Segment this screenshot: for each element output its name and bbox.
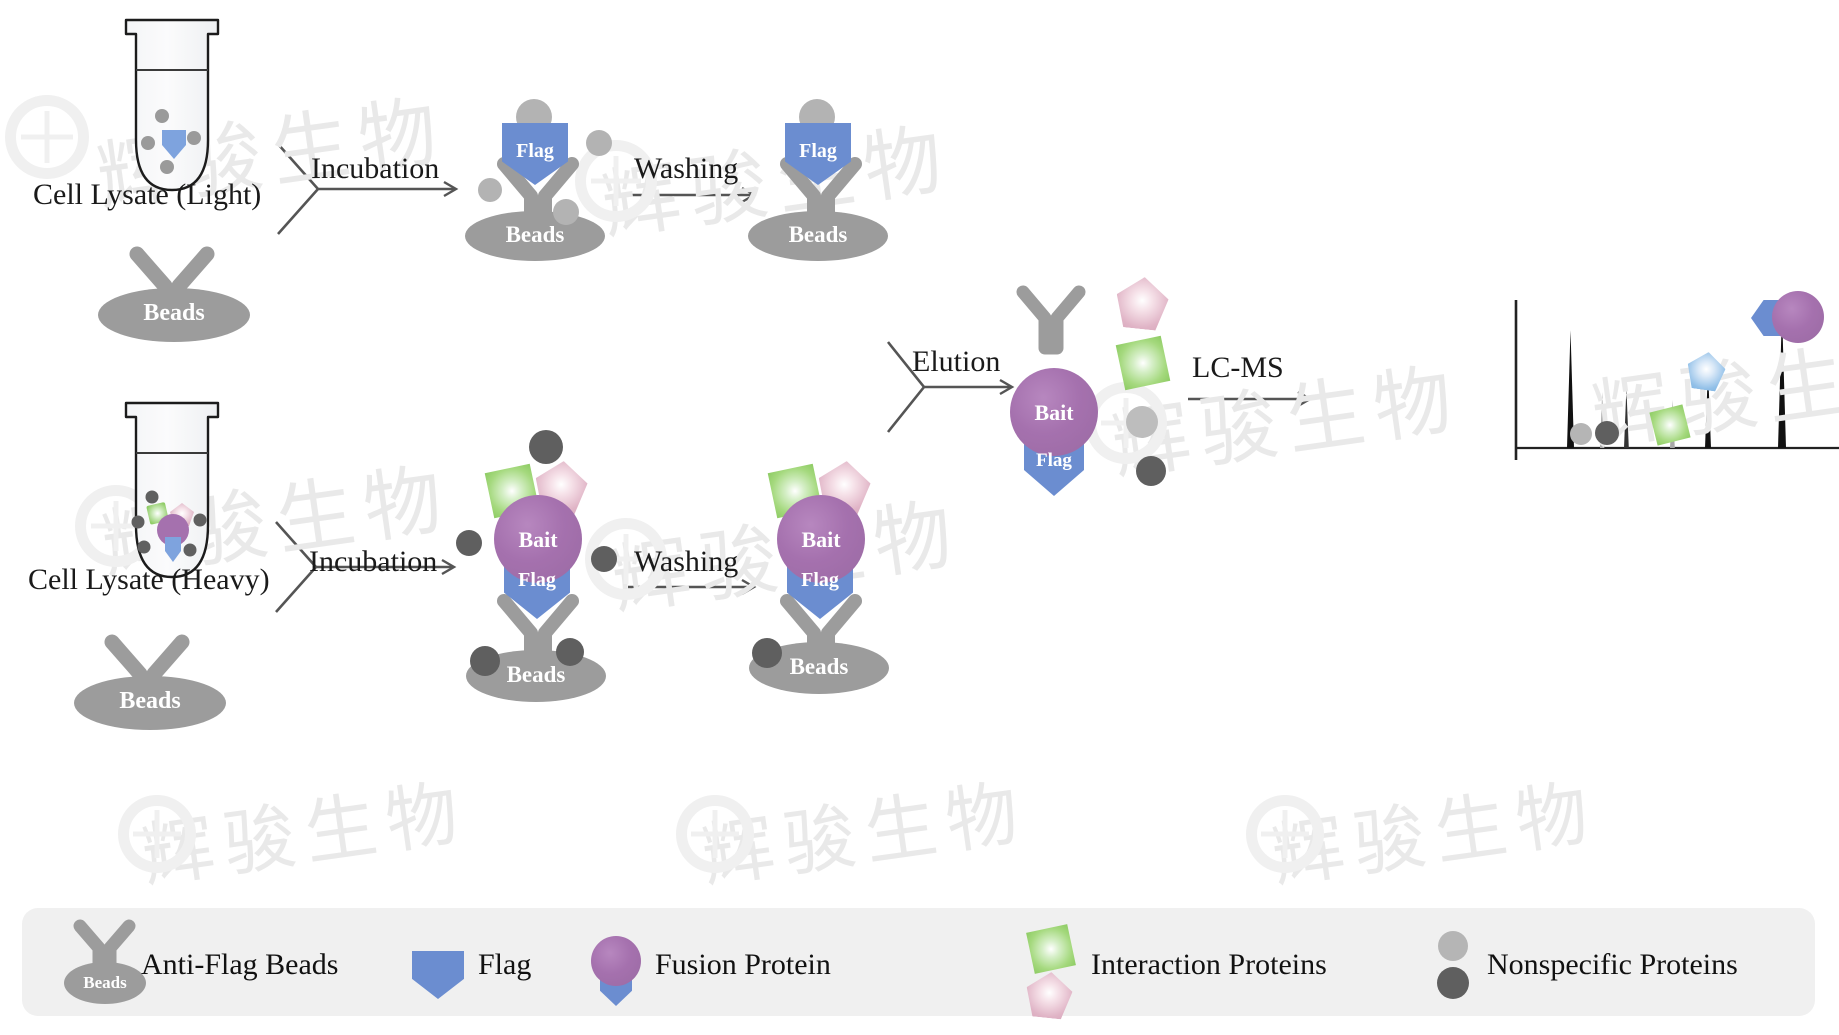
- label-washing-top: Washing: [634, 152, 738, 186]
- interaction-protein-square-icon: [1116, 336, 1171, 391]
- legend-label-fusion-protein: Fusion Protein: [655, 948, 831, 982]
- label-cell-lysate-heavy: Cell Lysate (Heavy): [28, 563, 270, 597]
- bait-protein-icon: [1010, 368, 1098, 456]
- antibody-icon: [123, 250, 221, 322]
- spectrum-marker-nonspecific-dark: [1595, 421, 1619, 445]
- washing-arrow-bottom: [628, 578, 760, 596]
- lcms-arrow: [1188, 390, 1316, 408]
- watermark-logo: [118, 795, 196, 873]
- nonspecific-protein-dot: [456, 530, 482, 556]
- nonspecific-protein-dot: [591, 546, 617, 572]
- label-incubation-top: Incubation: [311, 152, 439, 186]
- bait-protein-icon: [777, 495, 865, 583]
- legend-antibody-icon: [69, 922, 141, 978]
- watermark-logo: [5, 95, 89, 179]
- nonspecific-protein-dot: [586, 130, 612, 156]
- nonspecific-protein-dot: [1126, 406, 1158, 438]
- label-washing-bottom: Washing: [634, 545, 738, 579]
- legend-nonspecific-light-dot: [1438, 931, 1468, 961]
- watermark-text: 辉骏生物: [694, 753, 1033, 903]
- spectrum-marker-nonspecific-light: [1570, 423, 1592, 445]
- nonspecific-protein-dot: [529, 430, 563, 464]
- legend-nonspecific-dark-dot: [1437, 967, 1469, 999]
- legend-label-anti-flag-beads: Anti-Flag Beads: [141, 948, 338, 982]
- legend-fusion-bait-icon: [591, 936, 641, 986]
- legend-label-nonspecific-proteins: Nonspecific Proteins: [1487, 948, 1738, 982]
- bait-protein-icon: [494, 495, 582, 583]
- antibody-icon: [98, 638, 196, 710]
- washing-arrow-top: [628, 186, 760, 204]
- nonspecific-protein-dot: [1136, 456, 1166, 486]
- interaction-protein-pentagon-icon: [1113, 274, 1170, 331]
- watermark-logo: [1246, 795, 1324, 873]
- label-elution: Elution: [912, 345, 1000, 379]
- legend-label-interaction-proteins: Interaction Proteins: [1091, 948, 1327, 982]
- tube-heavy: [112, 395, 232, 591]
- antibody-icon: [1012, 288, 1090, 352]
- watermark-text: 辉骏生物: [134, 753, 473, 903]
- label-cell-lysate-light: Cell Lysate (Light): [33, 178, 261, 212]
- label-lcms: LC-MS: [1192, 351, 1284, 385]
- tube-light: [112, 12, 232, 202]
- legend-interaction-square-icon: [1026, 924, 1076, 974]
- watermark-text: 辉骏生物: [1264, 753, 1603, 903]
- legend-label-flag: Flag: [478, 948, 531, 982]
- label-incubation-bottom: Incubation: [309, 545, 437, 579]
- watermark-logo: [676, 795, 754, 873]
- figure-canvas: 辉骏生物 辉骏生物 辉骏生物 辉骏生物 辉骏生物 辉骏生物 辉骏生物 辉骏生物 …: [0, 0, 1839, 1035]
- spectrum-marker-bait: [1772, 291, 1824, 343]
